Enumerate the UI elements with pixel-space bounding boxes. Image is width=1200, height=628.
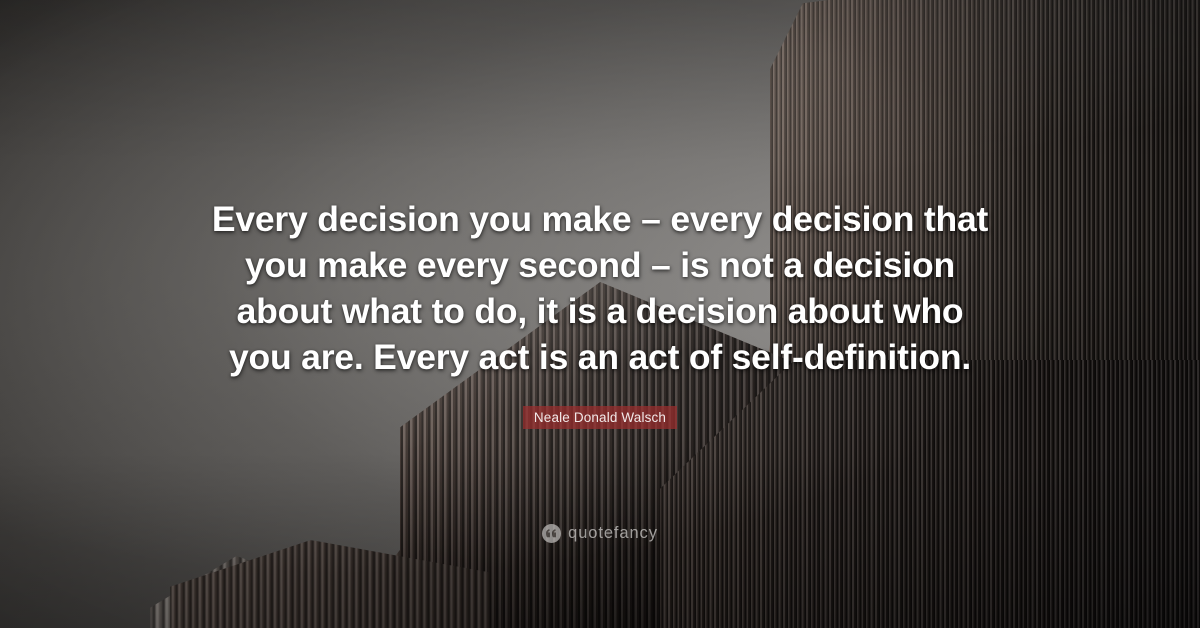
quote-poster: Every decision you make – every decision… (0, 0, 1200, 628)
quote-text: Every decision you make – every decision… (0, 196, 1200, 380)
quote-mark-icon (542, 524, 561, 543)
author-name-badge: Neale Donald Walsch (523, 406, 677, 429)
author-attribution: Neale Donald Walsch (0, 406, 1200, 429)
watermark-label: quotefancy (568, 524, 658, 543)
quotefancy-watermark[interactable]: quotefancy (0, 524, 1200, 543)
